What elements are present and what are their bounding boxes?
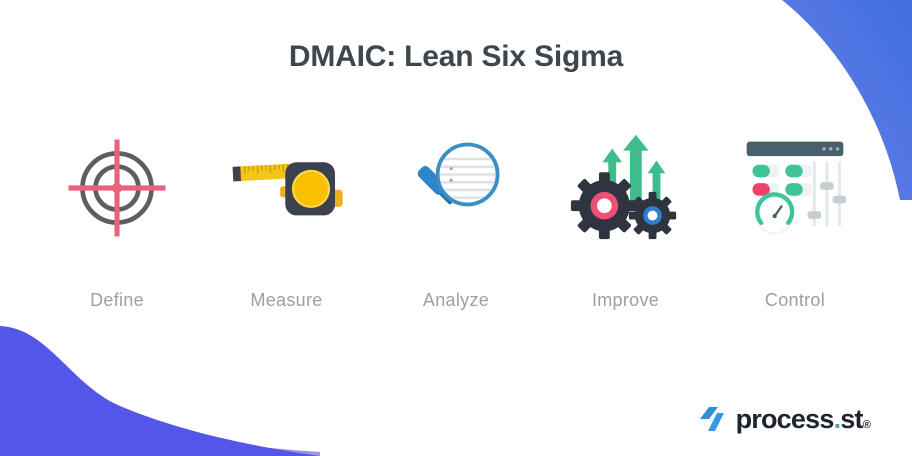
logo-brand: process: [736, 406, 834, 433]
dmaic-phase-row: Define: [36, 128, 876, 311]
logo-dot: .: [834, 406, 841, 433]
page-title: DMAIC: Lean Six Sigma: [0, 40, 912, 74]
logo-tld: st: [840, 406, 862, 433]
phase-improve[interactable]: Improve: [545, 128, 707, 311]
phase-label-control: Control: [765, 290, 825, 311]
infographic-canvas: DMAIC: Lean Six Sigma Define: [0, 0, 912, 456]
magnifying-glass-icon: [396, 128, 516, 248]
phase-define[interactable]: Define: [36, 128, 198, 311]
logo-registered-mark: ®: [863, 420, 870, 431]
gears-growth-arrows-icon: [566, 128, 686, 248]
phase-label-define: Define: [90, 290, 144, 311]
control-dashboard-icon: [735, 128, 855, 248]
process-st-logo[interactable]: process.st®: [697, 404, 870, 434]
phase-control[interactable]: Control: [714, 128, 876, 311]
phase-label-improve: Improve: [592, 290, 659, 311]
phase-label-analyze: Analyze: [423, 290, 489, 311]
phase-analyze[interactable]: Analyze: [375, 128, 537, 311]
bottom-left-wave: [0, 286, 320, 456]
phase-label-measure: Measure: [250, 290, 322, 311]
target-crosshair-icon: [57, 128, 177, 248]
tape-measure-icon: [227, 128, 347, 248]
process-st-logo-mark: [697, 404, 727, 434]
phase-measure[interactable]: Measure: [206, 128, 368, 311]
process-st-logo-text: process.st®: [736, 406, 870, 433]
